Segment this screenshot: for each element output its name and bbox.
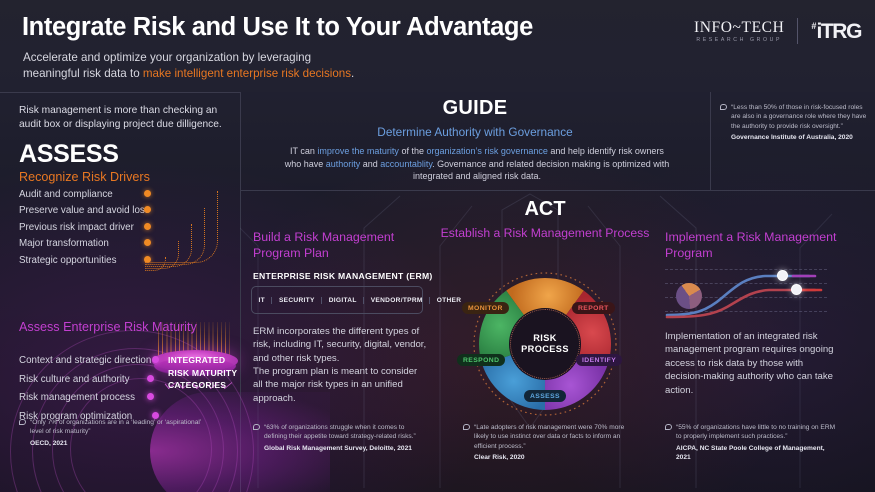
erm-tag-security[interactable]: SECURITY — [272, 297, 322, 304]
wheel-pill-respond[interactable]: RESPOND — [457, 354, 505, 366]
assess-intro-text: Risk management is more than checking an… — [19, 104, 225, 132]
trend-node-lower — [791, 284, 802, 295]
subtitle-post: . — [351, 67, 354, 80]
itrg-wordmark: iTRG — [816, 21, 861, 42]
quote-bubble-icon — [463, 424, 470, 430]
citation-oecd: “Only 7% of organizations are in a ‘lead… — [19, 418, 204, 448]
erm-tag-other[interactable]: OTHER — [430, 297, 468, 304]
implement-body-text: Implementation of an integrated risk man… — [665, 330, 840, 397]
subtitle-pre: meaningful risk data to — [23, 67, 143, 80]
guide-subtitle: Determine Authority with Governance — [240, 125, 710, 139]
implement-panel-title: Implement a Risk Management Program — [665, 230, 845, 261]
assess-column: Risk management is more than checking an… — [0, 92, 240, 492]
build-body-paragraph-1: ERM incorporates the different types of … — [253, 325, 428, 365]
info-tech-tagline: RESEARCH GROUP — [694, 37, 784, 43]
quote-bubble-icon — [665, 424, 672, 430]
citation-quote: “Late adopters of risk management were 7… — [474, 423, 638, 451]
erm-tag-it[interactable]: IT — [252, 297, 272, 304]
driver-label: Major transformation — [19, 237, 109, 250]
page-header: Integrate Risk and Use It to Your Advant… — [0, 0, 875, 92]
page-subtitle: Accelerate and optimize your organizatio… — [23, 50, 354, 81]
guide-body-accent: improve the maturity — [317, 146, 399, 156]
integrated-risk-maturity-categories-label: INTEGRATED RISK MATURITY CATEGORIES — [168, 354, 240, 392]
maturity-bullet-icon — [152, 356, 159, 363]
citation-quote: “55% of organizations have little to no … — [676, 423, 840, 442]
guide-body-text: IT can improve the maturity of the organ… — [282, 145, 672, 183]
wheel-pill-report[interactable]: REPORT — [572, 302, 615, 314]
guide-body-accent: accountablity — [380, 159, 432, 169]
assess-heading: ASSESS — [19, 140, 119, 169]
subtitle-line-1: Accelerate and optimize your organizatio… — [23, 50, 354, 66]
citation-source: Global Risk Management Survey, Deloitte,… — [264, 444, 423, 453]
citation-deloitte: “63% of organizations struggle when it c… — [253, 423, 423, 453]
wheel-pill-assess[interactable]: ASSESS — [524, 390, 566, 402]
maturity-label: Risk management process — [19, 391, 135, 404]
wheel-pill-identify[interactable]: IDENTIFY — [576, 354, 622, 366]
driver-label: Audit and compliance — [19, 188, 113, 201]
driver-label: Previous risk impact driver — [19, 221, 134, 234]
driver-label: Preserve value and avoid loss — [19, 204, 150, 217]
citation-source: AICPA, NC State Poole College of Managem… — [676, 444, 840, 463]
maturity-bullet-icon — [147, 375, 154, 382]
divider-guide-citation — [710, 92, 711, 190]
guide-heading: GUIDE — [240, 97, 710, 120]
erm-tag-vendor-tprm[interactable]: VENDOR/TPRM — [364, 297, 430, 304]
guide-section: GUIDE Determine Authority with Governanc… — [240, 92, 710, 190]
subtitle-line-2: meaningful risk data to make intelligent… — [23, 66, 354, 82]
build-panel-title: Build a Risk Management Program Plan — [253, 230, 428, 261]
wheel-center-text: RISK PROCESS — [511, 333, 579, 355]
citation-source: OECD, 2021 — [30, 439, 204, 448]
trend-lines — [665, 265, 827, 321]
citation-source: Governance Institute of Australia, 2020 — [731, 133, 868, 142]
quote-bubble-icon — [253, 424, 260, 430]
itrg-logo: # iTRG — [811, 21, 861, 42]
guide-body-accent: organization’s risk governance — [426, 146, 547, 156]
guide-body-plain: IT can — [290, 146, 317, 156]
citation-source: Clear Risk, 2020 — [474, 453, 638, 462]
brand-logos: INFO~TECH RESEARCH GROUP # iTRG — [694, 18, 861, 44]
implementation-trend-chart — [665, 265, 827, 321]
erm-tag-group: IT SECURITY DIGITAL VENDOR/TPRM OTHER — [251, 286, 423, 314]
info-tech-logo: INFO~TECH RESEARCH GROUP — [694, 19, 784, 43]
erm-heading: ENTERPRISE RISK MANAGEMENT (ERM) — [253, 271, 433, 281]
risk-process-wheel: RISK PROCESS MONITOR REPORT IDENTIFY ASS… — [471, 270, 619, 418]
info-tech-wordmark: INFO~TECH — [694, 19, 784, 36]
maturity-label: Context and strategic direction — [19, 354, 151, 367]
citation-clear-risk: “Late adopters of risk management were 7… — [463, 423, 638, 463]
maturity-bullet-icon — [147, 393, 154, 400]
list-item: Risk management process — [19, 391, 234, 410]
act-subtitle: Establish a Risk Management Process — [440, 226, 650, 241]
wheel-pill-monitor[interactable]: MONITOR — [462, 302, 509, 314]
subtitle-highlight: make intelligent enterprise risk decisio… — [143, 67, 351, 80]
trend-node-upper — [777, 270, 788, 281]
infographic-poster: Integrate Risk and Use It to Your Advant… — [0, 0, 875, 492]
citation-quote: “Only 7% of organizations are in a ‘lead… — [30, 418, 204, 437]
citation-quote: “Less than 50% of those in risk-focused … — [731, 103, 868, 131]
guide-body-accent: authority — [326, 159, 361, 169]
risk-drivers-heading: Recognize Risk Drivers — [19, 170, 150, 184]
citation-aicpa: “55% of organizations have little to no … — [665, 423, 840, 463]
citation-governance-institute: “Less than 50% of those in risk-focused … — [720, 103, 868, 143]
logo-divider — [797, 18, 798, 44]
erm-tag-digital[interactable]: DIGITAL — [322, 297, 364, 304]
quote-bubble-icon — [19, 419, 26, 425]
divider-guide-bottom — [240, 190, 875, 191]
citation-quote: “63% of organizations struggle when it c… — [264, 423, 423, 442]
guide-body-plain: . Governance and related decision making… — [413, 159, 669, 182]
wheel-center-label: RISK PROCESS — [510, 309, 580, 379]
act-heading: ACT — [440, 198, 650, 221]
driver-connector-lines — [135, 188, 240, 328]
driver-label: Strategic opportunities — [19, 254, 116, 267]
build-body-paragraph-2: The program plan is meant to consider al… — [253, 365, 428, 405]
maturity-label: Risk culture and authority — [19, 373, 130, 386]
quote-bubble-icon — [720, 104, 727, 110]
guide-body-plain: and — [360, 159, 380, 169]
page-title: Integrate Risk and Use It to Your Advant… — [22, 13, 533, 42]
guide-body-plain: of the — [399, 146, 427, 156]
maturity-heading: Assess Enterprise Risk Maturity — [19, 320, 197, 336]
